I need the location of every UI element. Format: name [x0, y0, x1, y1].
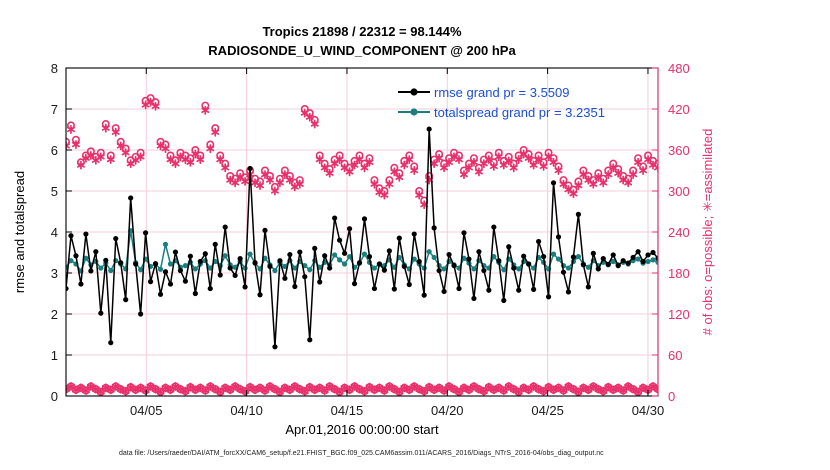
- rmse-marker: [317, 279, 322, 284]
- totalspread-marker: [372, 265, 377, 270]
- rmse-marker: [153, 261, 158, 266]
- totalspread-marker: [98, 265, 103, 270]
- rmse-marker: [257, 292, 262, 297]
- rmse-marker: [163, 269, 168, 274]
- y-tick-right: 180: [668, 266, 690, 281]
- rmse-marker: [252, 260, 257, 265]
- rmse-marker: [282, 276, 287, 281]
- totalspread-marker: [650, 257, 655, 262]
- rmse-marker: [228, 265, 233, 270]
- totalspread-marker: [168, 261, 173, 266]
- totalspread-marker: [332, 252, 337, 257]
- rmse-marker: [392, 286, 397, 291]
- rmse-marker: [297, 249, 302, 254]
- totalspread-marker: [163, 242, 168, 247]
- rmse-marker: [571, 254, 576, 259]
- rmse-marker: [481, 268, 486, 273]
- y-axis-left-label: rmse and totalspread: [12, 171, 27, 293]
- totalspread-marker: [645, 259, 650, 264]
- rmse-marker: [337, 238, 342, 243]
- rmse-marker: [650, 250, 655, 255]
- totalspread-marker: [158, 267, 163, 272]
- rmse-marker: [616, 263, 621, 268]
- rmse-marker: [272, 344, 277, 349]
- rmse-marker: [362, 216, 367, 221]
- rmse-marker: [138, 311, 143, 316]
- rmse-marker: [491, 224, 496, 229]
- totalspread-marker: [441, 266, 446, 271]
- totalspread-marker: [501, 267, 506, 272]
- y-tick-left: 4: [51, 225, 58, 240]
- totalspread-marker: [471, 266, 476, 271]
- rmse-marker: [387, 248, 392, 253]
- rmse-marker: [626, 261, 631, 266]
- totalspread-marker: [566, 265, 571, 270]
- x-tick-label: 04/15: [331, 403, 364, 418]
- rmse-marker: [322, 253, 327, 258]
- rmse-marker: [471, 296, 476, 301]
- totalspread-marker: [183, 263, 188, 268]
- rmse-marker: [178, 268, 183, 273]
- totalspread-marker: [556, 256, 561, 261]
- rmse-marker: [233, 273, 238, 278]
- rmse-marker: [516, 288, 521, 293]
- x-tick-label: 04/25: [531, 403, 564, 418]
- totalspread-marker: [576, 254, 581, 259]
- totalspread-marker: [636, 256, 641, 261]
- rmse-marker: [242, 284, 247, 289]
- rmse-marker: [287, 252, 292, 257]
- rmse-marker: [606, 262, 611, 267]
- totalspread-marker: [108, 268, 113, 273]
- rmse-marker: [377, 261, 382, 266]
- y-tick-left: 8: [51, 61, 58, 76]
- rmse-marker: [501, 298, 506, 303]
- totalspread-marker: [516, 266, 521, 271]
- rmse-marker: [397, 236, 402, 241]
- legend-label[interactable]: totalspread grand pr = 3.2351: [434, 105, 605, 120]
- totalspread-marker: [272, 268, 277, 273]
- rmse-marker: [412, 231, 417, 236]
- rmse-marker: [83, 231, 88, 236]
- y-tick-left: 1: [51, 348, 58, 363]
- x-tick-label: 04/20: [431, 403, 464, 418]
- rmse-marker: [541, 254, 546, 259]
- rmse-marker: [327, 265, 332, 270]
- totalspread-marker: [223, 253, 228, 258]
- rmse-marker: [93, 249, 98, 254]
- y-tick-left: 2: [51, 307, 58, 322]
- rmse-marker: [103, 258, 108, 263]
- totalspread-marker: [422, 265, 427, 270]
- rmse-marker: [511, 265, 516, 270]
- y-tick-right: 0: [668, 389, 675, 404]
- rmse-marker: [183, 279, 188, 284]
- totalspread-marker: [307, 267, 312, 272]
- rmse-marker: [640, 259, 645, 264]
- rmse-marker: [466, 256, 471, 261]
- rmse-marker: [645, 252, 650, 257]
- totalspread-marker: [362, 252, 367, 257]
- rmse-marker: [427, 126, 432, 131]
- rmse-marker: [123, 297, 128, 302]
- rmse-marker: [113, 236, 118, 241]
- rmse-marker: [586, 284, 591, 289]
- y-tick-right: 60: [668, 348, 682, 363]
- rmse-marker: [118, 260, 123, 265]
- rmse-marker: [213, 242, 218, 247]
- rmse-marker: [133, 261, 138, 266]
- x-tick-label: 04/30: [632, 403, 665, 418]
- footer-datafile: data file: /Users/raeder/DAI/ATM_forcXX/…: [119, 450, 604, 457]
- rmse-marker: [601, 256, 606, 261]
- rmse-marker: [168, 281, 173, 286]
- rmse-marker: [446, 252, 451, 257]
- rmse-marker: [576, 212, 581, 217]
- y-tick-left: 7: [51, 102, 58, 117]
- rmse-marker: [267, 264, 272, 269]
- rmse-marker: [611, 252, 616, 257]
- rmse-marker: [372, 286, 377, 291]
- rmse-marker: [422, 293, 427, 298]
- totalspread-marker: [432, 255, 437, 260]
- rmse-marker: [262, 228, 267, 233]
- rmse-marker: [451, 263, 456, 268]
- totalspread-marker: [427, 249, 432, 254]
- y-tick-right: 240: [668, 225, 690, 240]
- rmse-marker: [476, 249, 481, 254]
- rmse-marker: [188, 254, 193, 259]
- totalspread-marker: [193, 266, 198, 271]
- rmse-marker: [536, 239, 541, 244]
- rmse-marker: [223, 224, 228, 229]
- rmse-marker: [342, 251, 347, 256]
- rmse-marker: [218, 272, 223, 277]
- rmse-marker: [581, 262, 586, 267]
- totalspread-marker: [342, 261, 347, 266]
- x-axis-label: Apr.01,2016 00:00:00 start: [285, 422, 439, 437]
- y-tick-left: 0: [51, 389, 58, 404]
- rmse-marker: [78, 281, 83, 286]
- rmse-marker: [88, 268, 93, 273]
- legend-label[interactable]: rmse grand pr = 3.5509: [434, 85, 570, 100]
- y-tick-right: 300: [668, 184, 690, 199]
- rmse-marker: [302, 274, 307, 279]
- rmse-marker: [461, 230, 466, 235]
- rmse-marker: [526, 261, 531, 266]
- rmse-marker: [208, 286, 213, 291]
- rmse-marker: [143, 230, 148, 235]
- rmse-marker: [238, 256, 243, 261]
- rmse-marker: [247, 166, 252, 171]
- rmse-marker: [193, 291, 198, 296]
- rmse-marker: [591, 251, 596, 256]
- rmse-marker: [352, 281, 357, 286]
- chart-canvas: Tropics 21898 / 22312 = 98.144% RADIOSON…: [0, 0, 830, 470]
- rmse-marker: [357, 260, 362, 265]
- rmse-marker: [561, 270, 566, 275]
- rmse-marker: [486, 288, 491, 293]
- rmse-marker: [417, 259, 422, 264]
- y-tick-right: 120: [668, 307, 690, 322]
- rmse-marker: [441, 289, 446, 294]
- y-tick-left: 6: [51, 143, 58, 158]
- rmse-marker: [148, 279, 153, 284]
- rmse-marker: [307, 337, 312, 342]
- rmse-marker: [521, 254, 526, 259]
- rmse-marker: [367, 254, 372, 259]
- totalspread-marker: [586, 265, 591, 270]
- rmse-marker: [531, 287, 536, 292]
- rmse-marker: [506, 244, 511, 249]
- rmse-marker: [556, 234, 561, 239]
- rmse-marker: [73, 253, 78, 258]
- rmse-marker: [631, 255, 636, 260]
- rmse-marker: [98, 311, 103, 316]
- y-tick-right: 420: [668, 102, 690, 117]
- totalspread-marker: [551, 252, 556, 257]
- rmse-marker: [402, 264, 407, 269]
- rmse-marker: [68, 233, 73, 238]
- y-tick-right: 480: [668, 61, 690, 76]
- rmse-marker: [566, 289, 571, 294]
- chart-subtitle: RADIOSONDE_U_WIND_COMPONENT @ 200 hPa: [208, 43, 516, 58]
- rmse-marker: [496, 258, 501, 263]
- rmse-marker: [636, 249, 641, 254]
- x-tick-label: 04/10: [230, 403, 263, 418]
- rmse-marker: [437, 268, 442, 273]
- totalspread-marker: [247, 252, 252, 257]
- x-tick-label: 04/05: [130, 403, 163, 418]
- rmse-marker: [332, 215, 337, 220]
- rmse-marker: [621, 258, 626, 263]
- rmse-marker: [456, 286, 461, 291]
- y-tick-left: 3: [51, 266, 58, 281]
- rmse-marker: [173, 249, 178, 254]
- rmse-marker: [407, 282, 412, 287]
- rmse-marker: [198, 259, 203, 264]
- y-tick-right: 360: [668, 143, 690, 158]
- rmse-marker: [203, 251, 208, 256]
- rmse-marker: [546, 294, 551, 299]
- rmse-marker: [551, 180, 556, 185]
- rmse-marker: [277, 258, 282, 263]
- y-axis-right-label: # of obs: o=possible; ✳=assimilated: [700, 129, 715, 336]
- rmse-marker: [292, 284, 297, 289]
- rmse-marker: [382, 268, 387, 273]
- totalspread-marker: [337, 257, 342, 262]
- rmse-marker: [158, 292, 163, 297]
- rmse-marker: [596, 266, 601, 271]
- rmse-marker: [432, 225, 437, 230]
- rmse-marker: [108, 340, 113, 345]
- rmse-marker: [347, 226, 352, 231]
- rmse-marker: [312, 246, 317, 251]
- totalspread-marker: [138, 267, 143, 272]
- chart-title: Tropics 21898 / 22312 = 98.144%: [262, 24, 462, 39]
- rmse-marker: [128, 195, 133, 200]
- y-tick-left: 5: [51, 184, 58, 199]
